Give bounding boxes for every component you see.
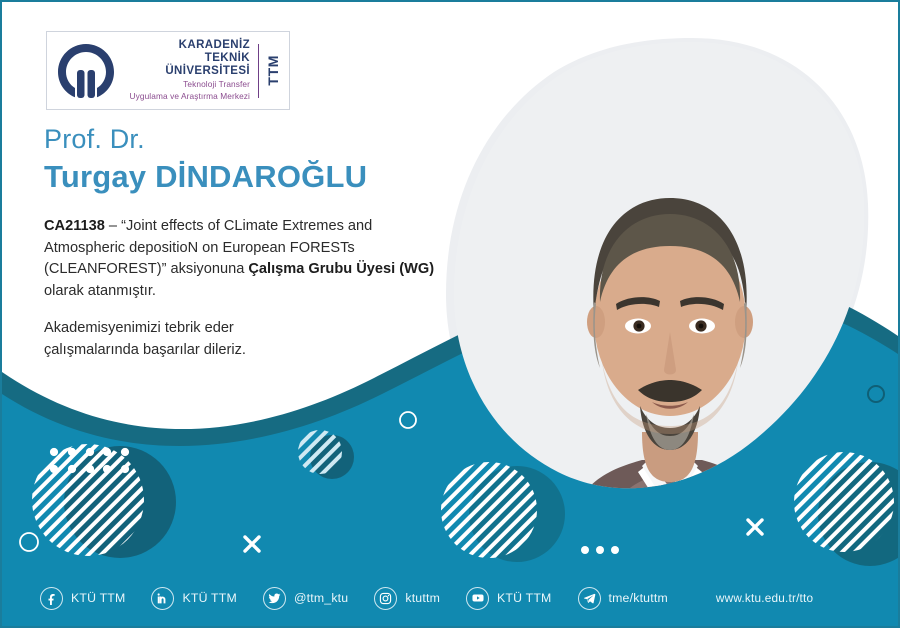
three-dots: [581, 546, 619, 554]
website-url[interactable]: www.ktu.edu.tr/tto: [716, 591, 813, 605]
facebook-icon[interactable]: [40, 587, 63, 610]
title-name: Turgay DİNDAROĞLU: [44, 157, 367, 197]
ktu-omega-logo-icon: [53, 39, 119, 103]
social-footer: KTÜ TTM KTÜ TTM @ttm_ktu: [2, 570, 898, 626]
social-item-facebook[interactable]: KTÜ TTM: [40, 587, 125, 610]
ktu-ttm-logo: KARADENİZ TEKNİK ÜNİVERSİTESİ Teknoloji …: [46, 31, 290, 110]
congrats-line-2: çalışmalarında başarılar dileriz.: [44, 340, 374, 362]
social-label: KTÜ TTM: [182, 591, 236, 605]
youtube-icon[interactable]: [466, 587, 489, 610]
social-item-telegram[interactable]: tme/ktuttm: [578, 587, 668, 610]
telegram-icon[interactable]: [578, 587, 601, 610]
announcement-tail: olarak atanmıştır.: [44, 283, 156, 299]
social-item-youtube[interactable]: KTÜ TTM: [466, 587, 551, 610]
announcement-text: CA21138 – “Joint effects of CLimate Extr…: [44, 216, 444, 302]
action-code: CA21138: [44, 218, 105, 234]
congratulations-text: Akademisyenimizi tebrik eder çalışmaları…: [44, 318, 374, 362]
logo-divider: [258, 44, 259, 98]
page-title: Prof. Dr. Turgay DİNDAROĞLU: [44, 124, 367, 197]
announcement-poster: KARADENİZ TEKNİK ÜNİVERSİTESİ Teknoloji …: [0, 0, 900, 628]
title-prefix: Prof. Dr.: [44, 124, 367, 155]
logo-ttm-label: TTM: [265, 55, 281, 86]
social-label: KTÜ TTM: [71, 591, 125, 605]
logo-sub-2: Uygulama ve Araştırma Merkezi: [130, 92, 250, 102]
linkedin-icon[interactable]: [151, 587, 174, 610]
instagram-icon[interactable]: [374, 587, 397, 610]
social-item-instagram[interactable]: ktuttm: [374, 587, 440, 610]
logo-sub-1: Teknoloji Transfer: [183, 80, 250, 90]
congrats-line-1: Akademisyenimizi tebrik eder: [44, 318, 374, 340]
social-label: KTÜ TTM: [497, 591, 551, 605]
logo-line-2: TEKNİK ÜNİVERSİTESİ: [119, 52, 250, 78]
social-label: @ttm_ktu: [294, 591, 348, 605]
social-label: ktuttm: [405, 591, 440, 605]
striped-circle-right: [794, 452, 894, 552]
striped-circle-mid: [441, 462, 537, 558]
striped-circle-lower-left: [32, 444, 144, 556]
social-item-twitter[interactable]: @ttm_ktu: [263, 587, 348, 610]
twitter-icon[interactable]: [263, 587, 286, 610]
announcement-dash: –: [105, 218, 121, 234]
striped-circle-upper: [298, 430, 342, 474]
social-item-linkedin[interactable]: KTÜ TTM: [151, 587, 236, 610]
announcement-role: Çalışma Grubu Üyesi (WG): [248, 261, 434, 277]
social-label: tme/ktuttm: [609, 591, 668, 605]
logo-line-1: KARADENİZ: [179, 39, 250, 52]
